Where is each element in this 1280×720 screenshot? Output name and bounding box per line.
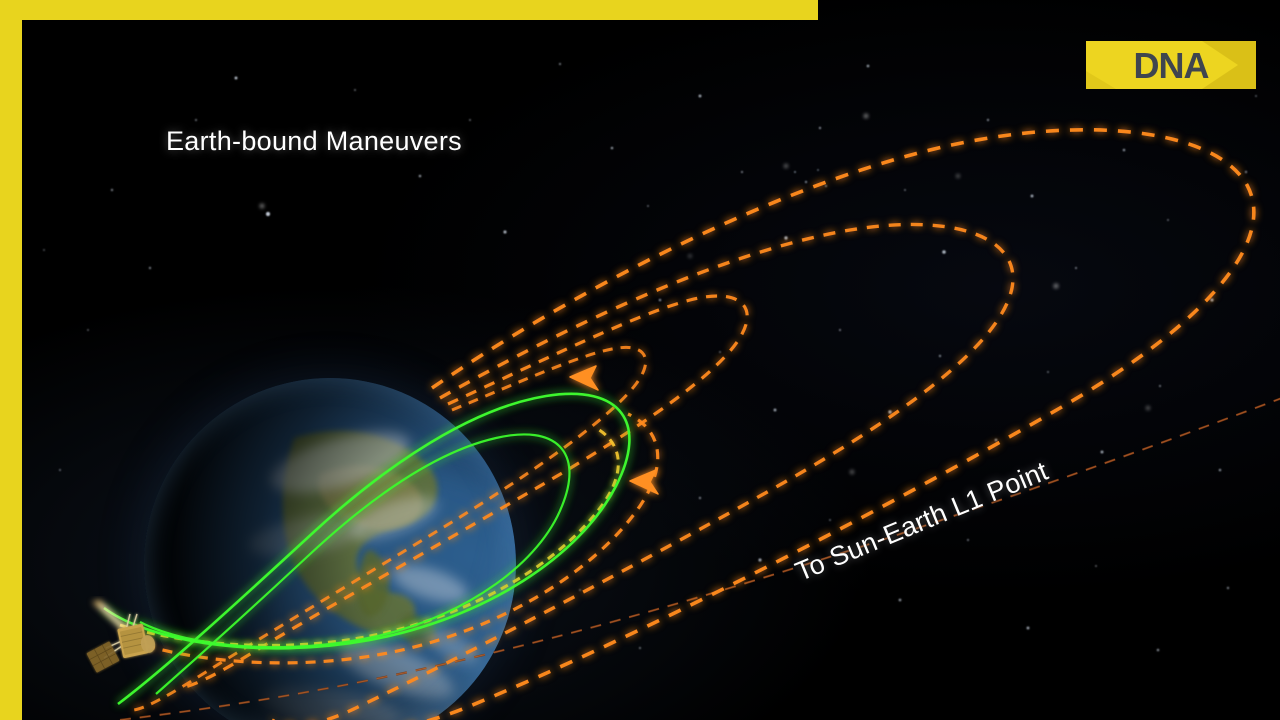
thruster-plume — [92, 600, 128, 632]
orbit-orange-outer — [300, 130, 1254, 720]
aditya-l1-spacecraft — [78, 596, 180, 682]
direction-marker-lower — [630, 470, 658, 494]
direction-marker-upper — [570, 366, 598, 390]
orbit-green-inner — [140, 434, 569, 694]
orbit-gold-dashed — [120, 428, 618, 645]
dna-logo[interactable]: DNA — [1086, 41, 1256, 89]
yellow-left-border — [0, 0, 22, 720]
orbit-orange-near-earth — [134, 347, 646, 710]
orbit-orange-inner — [180, 296, 747, 688]
logo-text: DNA — [1134, 45, 1210, 86]
infographic-canvas: Earth-bound Maneuvers To Sun-Earth L1 Po… — [0, 0, 1280, 720]
page-title: Earth-bound Maneuvers — [166, 126, 462, 157]
orbit-escape-to-l1 — [120, 395, 1280, 720]
orbit-orange-middle — [272, 224, 1013, 720]
orbit-trajectories — [0, 0, 1280, 720]
yellow-top-border — [0, 0, 818, 20]
